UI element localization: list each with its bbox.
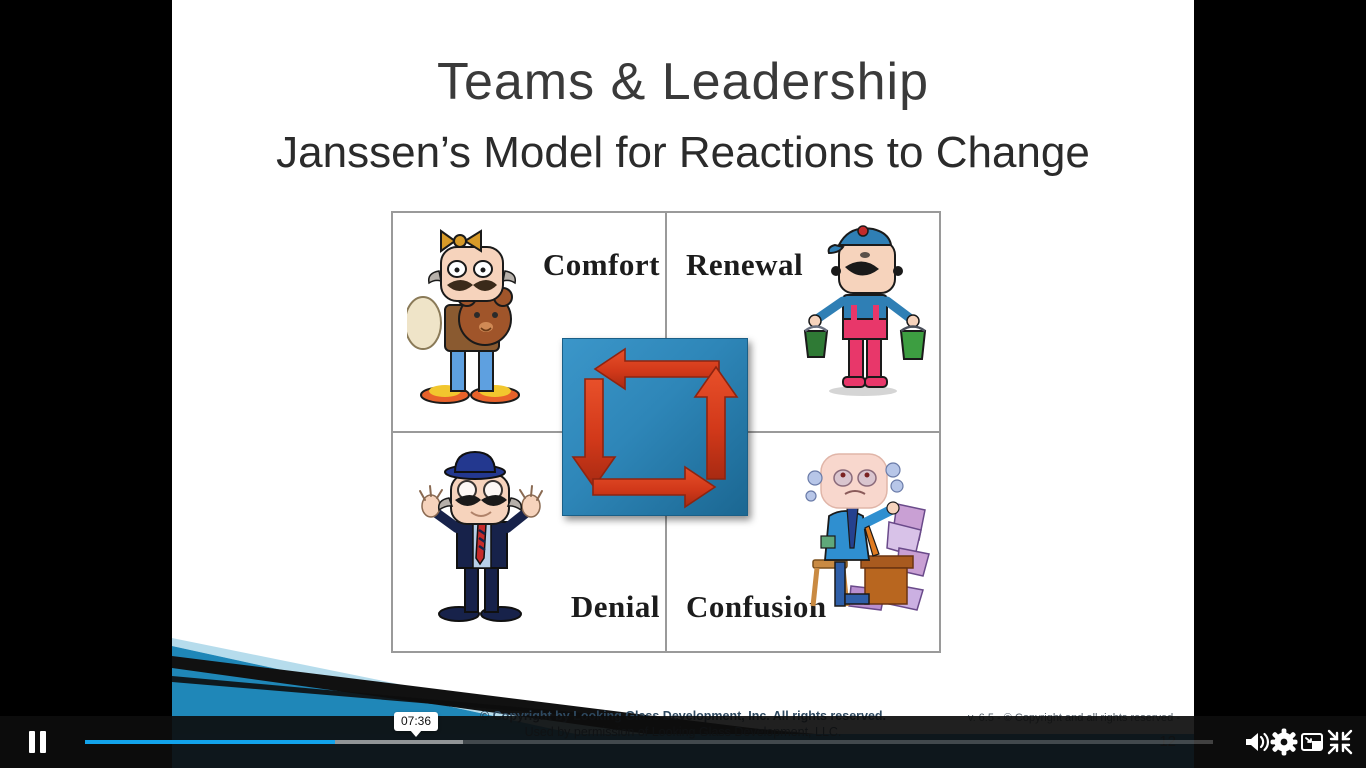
page-title: Teams & Leadership — [172, 52, 1194, 112]
time-tooltip: 07:36 — [394, 712, 438, 731]
presentation-slide: Teams & Leadership Janssen’s Model for R… — [172, 0, 1194, 768]
exit-fullscreen-icon[interactable] — [1325, 727, 1355, 757]
progress-played — [85, 740, 335, 744]
volume-icon[interactable] — [1240, 727, 1270, 757]
progress-bar[interactable]: 07:36 — [85, 740, 1213, 744]
figure-businessman-with-hat-icon — [415, 446, 545, 626]
pause-button[interactable] — [22, 728, 52, 756]
picture-in-picture-icon[interactable] — [1297, 727, 1327, 757]
quadrant-label-denial: Denial — [571, 589, 660, 625]
figure-man-with-teddy-bear-icon — [407, 227, 537, 407]
figure-confused-person-at-desk-icon — [805, 444, 935, 624]
figure-painter-with-buckets-icon — [799, 219, 929, 399]
change-cycle-box — [562, 338, 748, 516]
quadrant-label-comfort: Comfort — [543, 247, 660, 283]
video-player-viewport: Teams & Leadership Janssen’s Model for R… — [0, 0, 1366, 768]
player-control-bar: 07:36 — [0, 716, 1366, 768]
cycle-arrows-icon — [563, 339, 747, 515]
pause-icon-bar-right — [40, 731, 46, 753]
gear-icon[interactable] — [1269, 727, 1299, 757]
pause-icon-bar-left — [29, 731, 35, 753]
quadrant-label-renewal: Renewal — [686, 247, 803, 283]
page-subtitle: Janssen’s Model for Reactions to Change — [172, 128, 1194, 178]
